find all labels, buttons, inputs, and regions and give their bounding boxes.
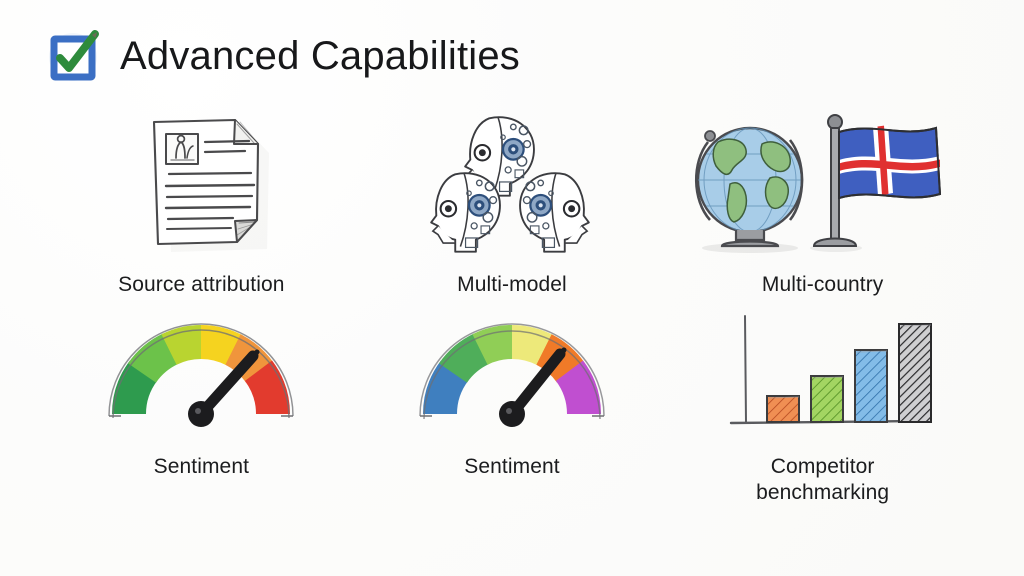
globe-and-flag-icon <box>688 108 958 258</box>
gauge-meter-rainbow-icon <box>412 308 612 436</box>
capability-label: Sentiment <box>154 454 249 480</box>
slide-canvas: Advanced Capabilities <box>0 0 1024 576</box>
capabilities-grid: Source attribution <box>46 108 978 558</box>
document-with-thumbnail-icon <box>121 108 281 258</box>
capability-label: Competitor benchmarking <box>756 454 889 505</box>
page-title: Advanced Capabilities <box>120 34 520 79</box>
capability-label-line2: benchmarking <box>756 481 889 504</box>
nordic-cross-flag-icon <box>810 115 940 252</box>
capability-label-line1: Competitor <box>771 455 875 478</box>
capability-card-sentiment-2[interactable]: Sentiment <box>357 308 668 518</box>
three-robot-heads-icon <box>424 108 599 258</box>
slide-header: Advanced Capabilities <box>46 28 520 84</box>
gauge-meter-icon <box>101 308 301 436</box>
bar-chart-icon <box>723 308 923 436</box>
capability-card-multi-country[interactable]: Multi-country <box>667 108 978 308</box>
checked-checkbox-icon <box>46 28 102 84</box>
capability-card-source-attribution[interactable]: Source attribution <box>46 108 357 308</box>
capability-card-multi-model[interactable]: Multi-model <box>357 108 668 308</box>
capability-label: Multi-country <box>762 272 884 298</box>
capability-label: Multi-model <box>457 272 567 298</box>
capability-label: Sentiment <box>464 454 559 480</box>
globe-icon <box>696 128 802 253</box>
capability-label: Source attribution <box>118 272 284 298</box>
capability-card-competitor-benchmarking[interactable]: Competitor benchmarking <box>667 308 978 518</box>
capability-card-sentiment-1[interactable]: Sentiment <box>46 308 357 518</box>
